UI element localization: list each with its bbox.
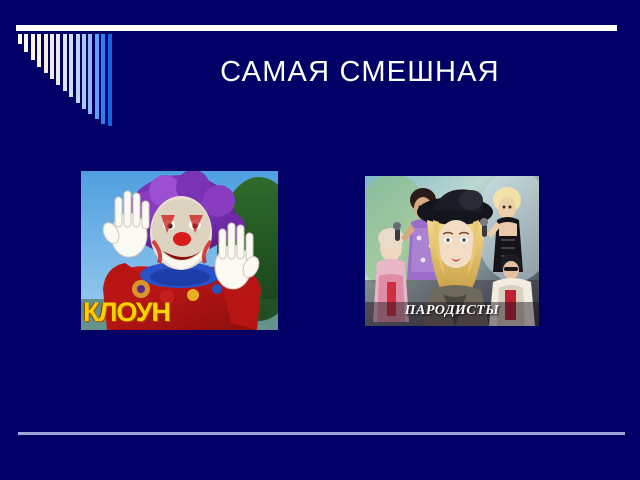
ornament-bar [31,34,35,60]
parodists-photo: ПАРОДИСТЫ [365,176,539,326]
ornament-bar [101,34,105,124]
ornament-bar [82,34,86,109]
page-title: САМАЯ СМЕШНАЯ [130,56,590,89]
ornament-bar [56,34,60,85]
ornament-bar [63,34,67,91]
ornament-bar [95,34,99,119]
parodists-caption: ПАРОДИСТЫ [365,303,539,319]
clown-caption: КЛОУН [83,299,170,326]
ornament-bar [88,34,92,114]
ornament-bar [24,34,28,52]
ornament-bar [76,34,80,103]
bottom-divider-rule [18,432,625,435]
ornament-bar [50,34,54,79]
ornament-bar [108,34,112,126]
presentation-slide: САМАЯ СМЕШНАЯ [0,0,640,480]
top-divider-rule [16,25,617,31]
clown-photo: КЛОУН [81,171,278,330]
ornament-bar [44,34,48,73]
ornament-bar [69,34,73,97]
ornament-bar [18,34,22,44]
ornament-bar [37,34,41,67]
descending-bars-ornament [18,34,114,126]
